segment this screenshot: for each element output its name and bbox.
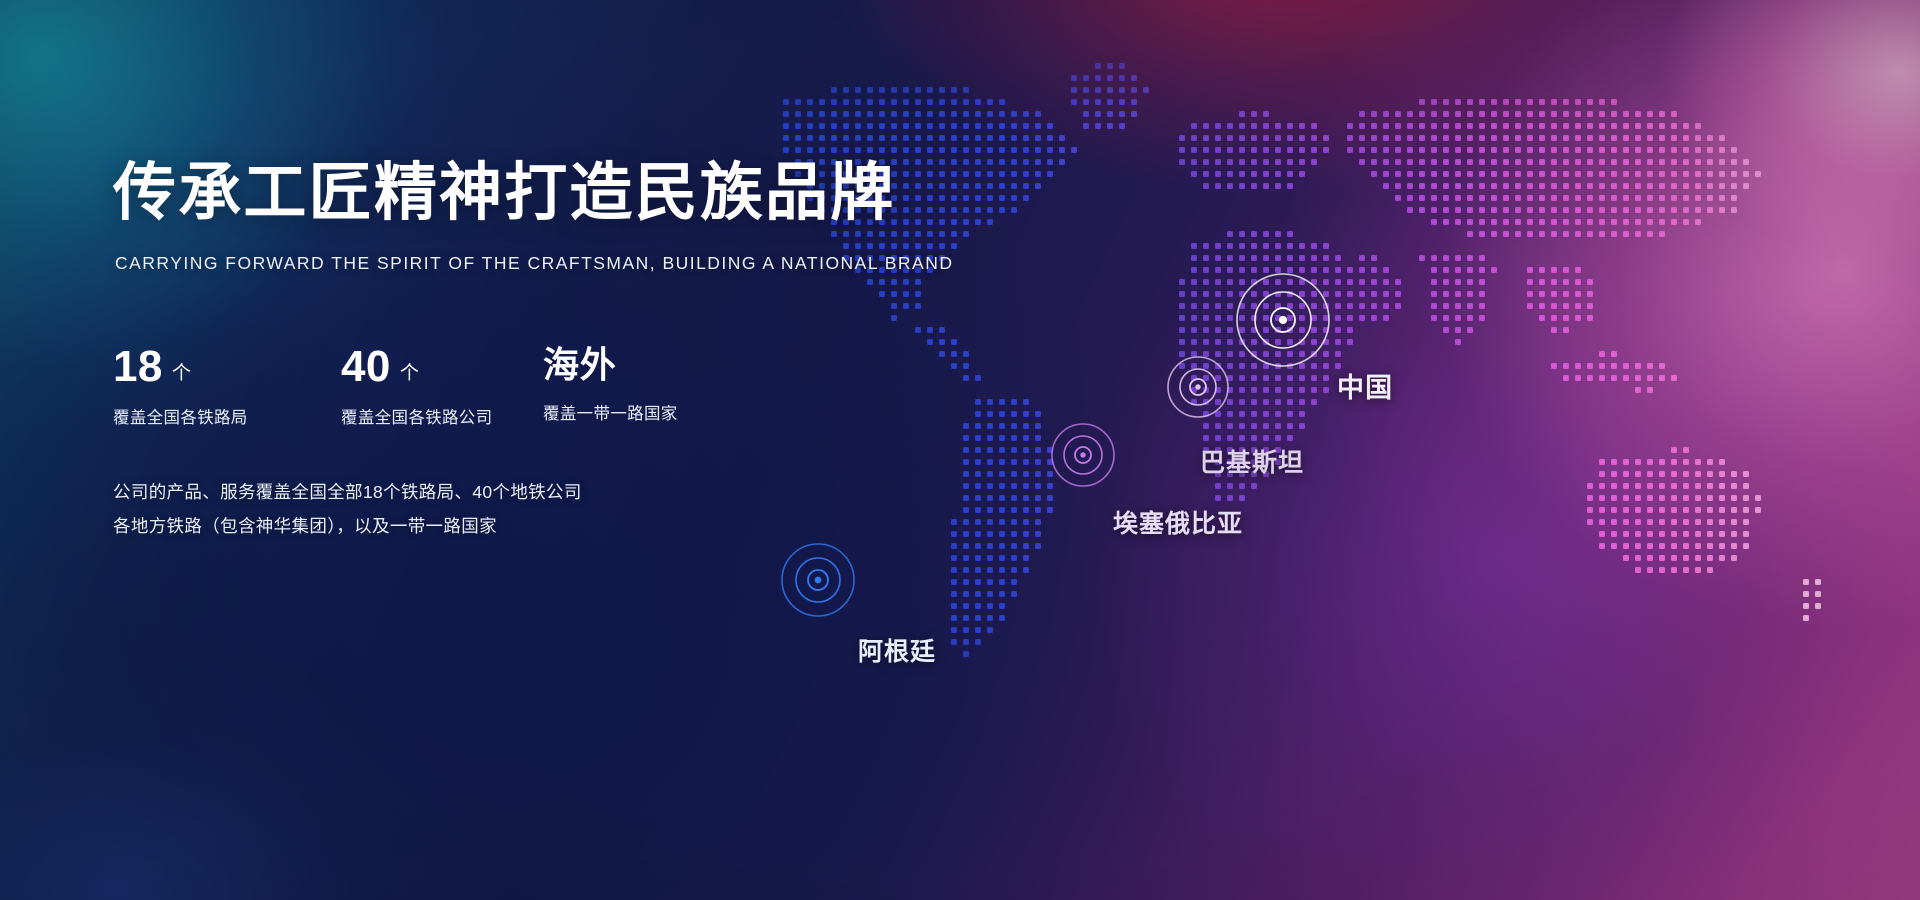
description-line: 各地方铁路（包含神华集团），以及一带一路国家 <box>113 509 582 543</box>
map-marker[interactable] <box>1049 421 1117 489</box>
stat-description: 覆盖全国各铁路公司 <box>341 404 492 428</box>
stat-item: 18个覆盖全国各铁路局 <box>113 345 248 428</box>
stat-item: 海外覆盖一带一路国家 <box>543 345 678 424</box>
marker-rings-icon <box>1049 421 1117 489</box>
map-marker-label: 中国 <box>1337 366 1393 405</box>
marker-rings-icon <box>1165 354 1231 420</box>
stats-row: 18个覆盖全国各铁路局40个覆盖全国各铁路公司海外覆盖一带一路国家 <box>113 345 893 435</box>
stat-number: 18 <box>113 345 163 389</box>
stat-value-row: 18个 <box>113 345 248 389</box>
background-vignette <box>0 0 1920 900</box>
map-marker[interactable] <box>1165 354 1231 420</box>
stat-item: 40个覆盖全国各铁路公司 <box>341 345 492 428</box>
stat-description: 覆盖全国各铁路局 <box>113 404 248 428</box>
marker-rings-icon <box>1234 271 1332 369</box>
stat-unit: 个 <box>172 358 191 385</box>
map-marker[interactable] <box>1234 271 1332 369</box>
description-line: 公司的产品、服务覆盖全国全部18个铁路局、40个地铁公司 <box>113 475 582 509</box>
stat-description: 覆盖一带一路国家 <box>543 400 678 424</box>
stat-value-row: 海外 <box>543 345 678 385</box>
page-subtitle: CARRYING FORWARD THE SPIRIT OF THE CRAFT… <box>115 253 953 274</box>
map-marker[interactable] <box>779 541 857 619</box>
map-marker-label: 埃塞俄比亚 <box>1113 504 1243 540</box>
marker-rings-icon <box>779 541 857 619</box>
stat-word: 海外 <box>543 345 616 385</box>
hero-banner: 阿根廷埃塞俄比亚巴基斯坦中国 传承工匠精神打造民族品牌 CARRYING FOR… <box>0 0 1920 900</box>
stat-value-row: 40个 <box>341 345 492 389</box>
stat-number: 40 <box>341 345 391 389</box>
description-paragraph: 公司的产品、服务覆盖全国全部18个铁路局、40个地铁公司 各地方铁路（包含神华集… <box>113 475 582 543</box>
page-title: 传承工匠精神打造民族品牌 <box>113 162 895 225</box>
map-marker-label: 阿根廷 <box>858 632 936 668</box>
map-marker-label: 巴基斯坦 <box>1200 443 1304 479</box>
stat-unit: 个 <box>400 358 419 385</box>
